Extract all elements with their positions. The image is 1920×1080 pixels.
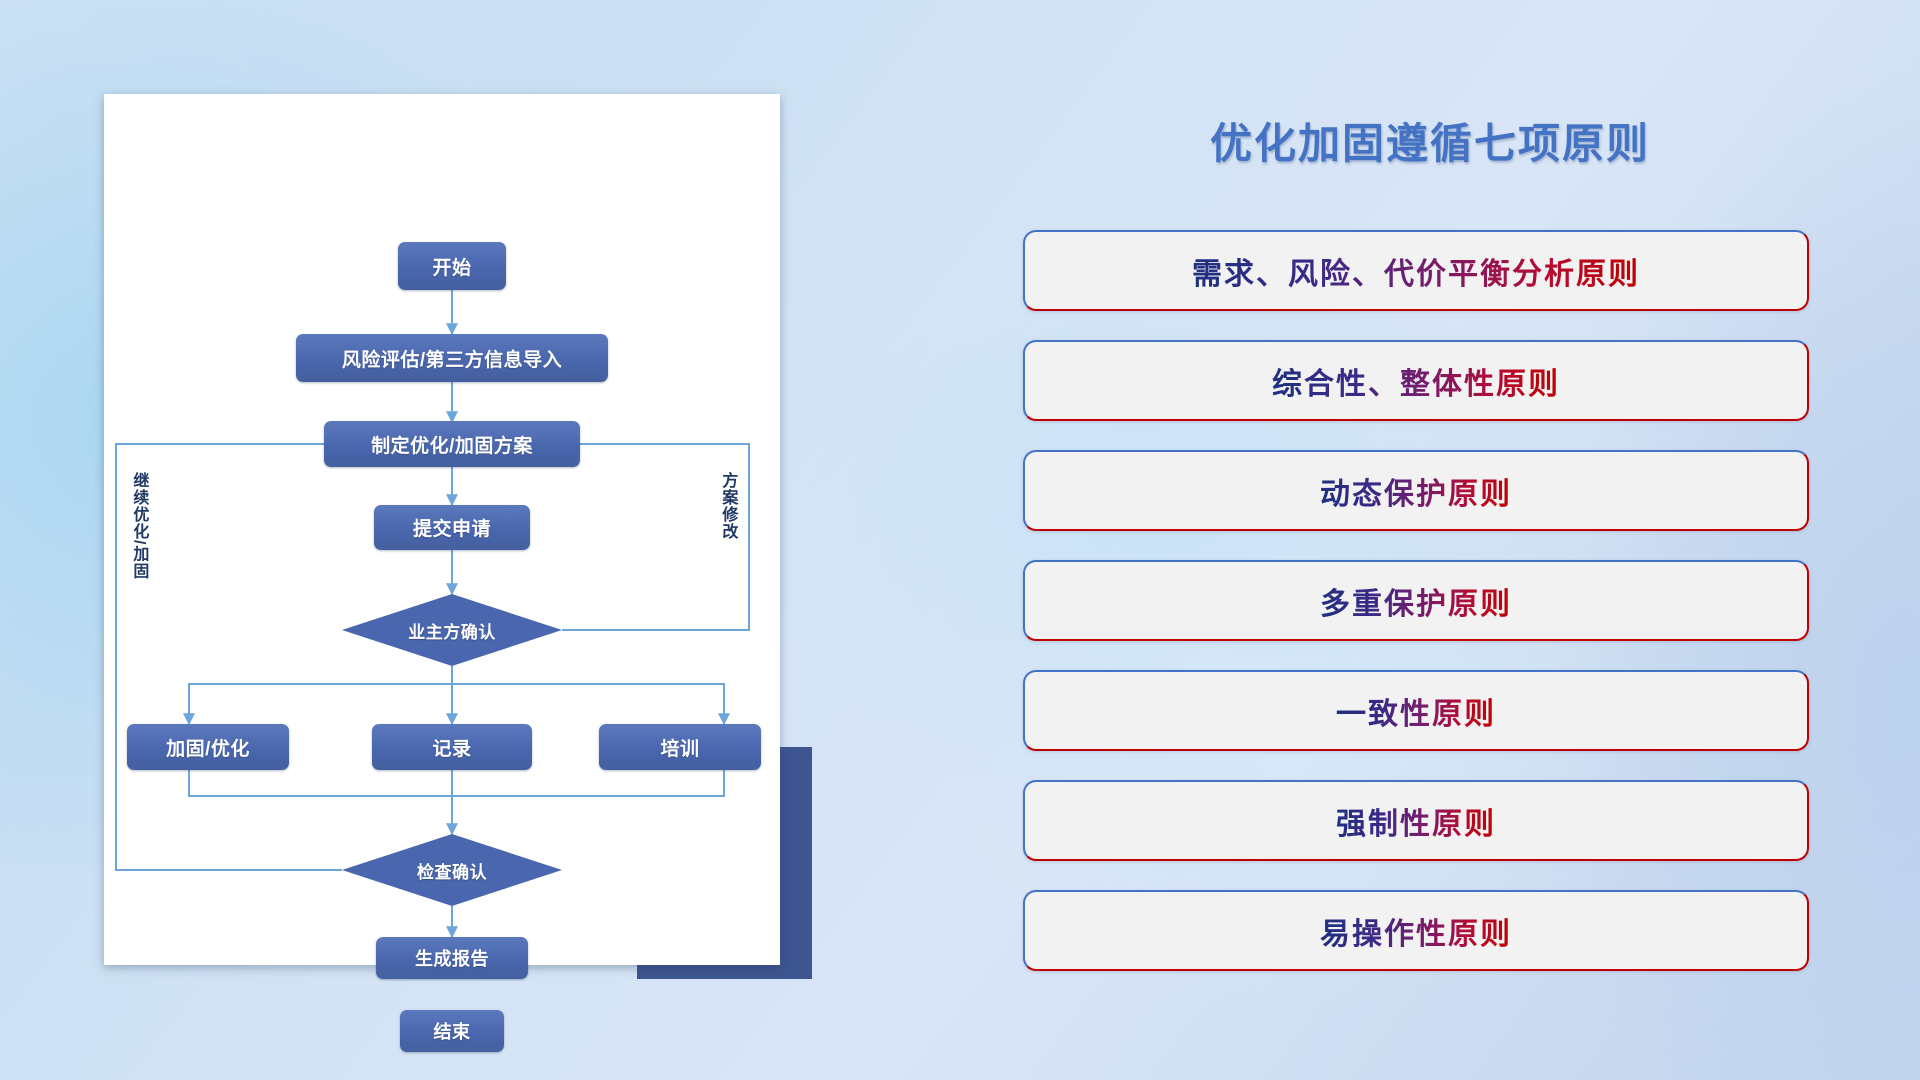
principle-label: 综合性、整体性原则 [1272,359,1560,403]
principle-item[interactable]: 一致性原则 [1023,670,1809,751]
page-title: 优化加固遵循七项原则 [1030,110,1830,171]
flow-node-owner-confirm[interactable]: 业主方确认 [342,594,562,666]
flowchart: 开始 风险评估/第三方信息导入 制定优化/加固方案 提交申请 业主方确认 加固/… [104,94,780,965]
principle-label: 动态保护原则 [1320,469,1512,513]
flow-node-check-confirm-label: 检查确认 [417,858,487,883]
flow-node-check-confirm[interactable]: 检查确认 [342,834,562,906]
flow-node-plan[interactable]: 制定优化/加固方案 [324,421,580,467]
flow-node-training[interactable]: 培训 [599,724,761,770]
flow-node-submit-application[interactable]: 提交申请 [374,505,530,550]
principle-item[interactable]: 需求、风险、代价平衡分析原则 [1023,230,1809,311]
principle-item[interactable]: 易操作性原则 [1023,890,1809,971]
principle-label: 易操作性原则 [1320,909,1512,953]
principle-item[interactable]: 多重保护原则 [1023,560,1809,641]
principle-item[interactable]: 强制性原则 [1023,780,1809,861]
flow-node-record[interactable]: 记录 [372,724,532,770]
principle-label: 强制性原则 [1336,799,1496,843]
flow-node-generate-report[interactable]: 生成报告 [376,937,528,979]
principle-label: 一致性原则 [1336,689,1496,733]
principle-label: 需求、风险、代价平衡分析原则 [1192,249,1640,293]
flow-node-end[interactable]: 结束 [400,1010,504,1052]
slide-root: 开始 风险评估/第三方信息导入 制定优化/加固方案 提交申请 业主方确认 加固/… [0,0,1920,1080]
flow-node-start[interactable]: 开始 [398,242,506,290]
flow-node-risk-assessment[interactable]: 风险评估/第三方信息导入 [296,334,608,382]
flow-node-owner-confirm-label: 业主方确认 [408,618,496,643]
flow-node-reinforce[interactable]: 加固/优化 [127,724,289,770]
principle-label: 多重保护原则 [1320,579,1512,623]
flowchart-card: 开始 风险评估/第三方信息导入 制定优化/加固方案 提交申请 业主方确认 加固/… [104,94,780,965]
edge-label-plan-revise: 方案修改 [719,472,735,582]
edge-label-continue-loop: 继续优化/加固 [130,472,146,647]
principle-item[interactable]: 动态保护原则 [1023,450,1809,531]
principles-list: 需求、风险、代价平衡分析原则 综合性、整体性原则 动态保护原则 多重保护原则 一… [1023,230,1809,971]
principle-item[interactable]: 综合性、整体性原则 [1023,340,1809,421]
